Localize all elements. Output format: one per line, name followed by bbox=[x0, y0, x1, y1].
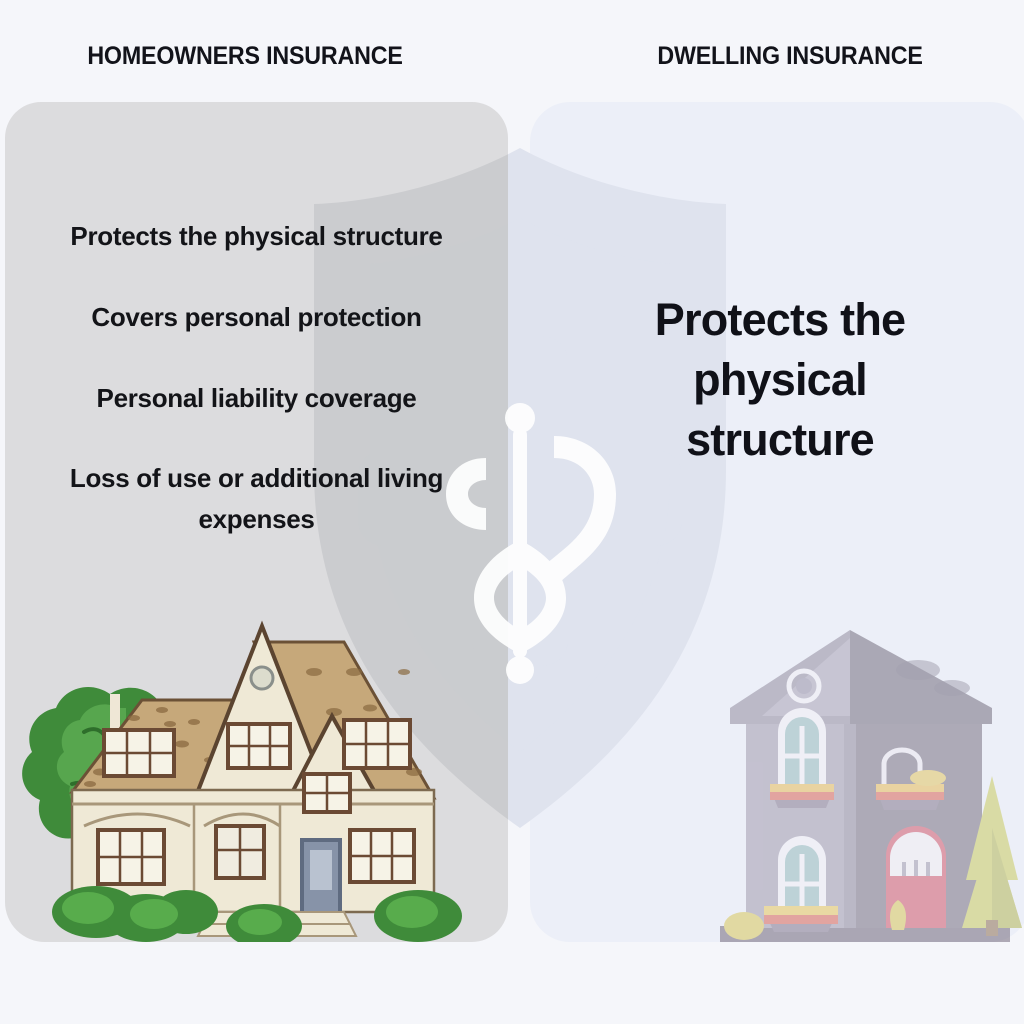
list-item: Personal liability coverage bbox=[5, 378, 508, 419]
infographic-canvas: HOMEOWNERS INSURANCE DWELLING INSURANCE … bbox=[0, 0, 1024, 1024]
list-item: Covers personal protection bbox=[5, 297, 508, 338]
headline-line-2: physical bbox=[560, 350, 1000, 410]
dwelling-benefit-headline: Protects the physical structure bbox=[560, 290, 1000, 470]
headline-line-3: structure bbox=[560, 410, 1000, 470]
list-item: Protects the physical structure bbox=[5, 216, 508, 257]
list-item: Loss of use or additional living expense… bbox=[5, 458, 508, 540]
headline-line-1: Protects the bbox=[560, 290, 1000, 350]
homeowners-benefit-list: Protects the physical structure Covers p… bbox=[5, 195, 508, 540]
flat-purple-house-icon bbox=[700, 608, 1024, 942]
watercolor-tudor-house-icon bbox=[14, 612, 474, 942]
column-header-homeowners: HOMEOWNERS INSURANCE bbox=[17, 42, 473, 71]
column-header-dwelling: DWELLING INSURANCE bbox=[548, 42, 1024, 71]
